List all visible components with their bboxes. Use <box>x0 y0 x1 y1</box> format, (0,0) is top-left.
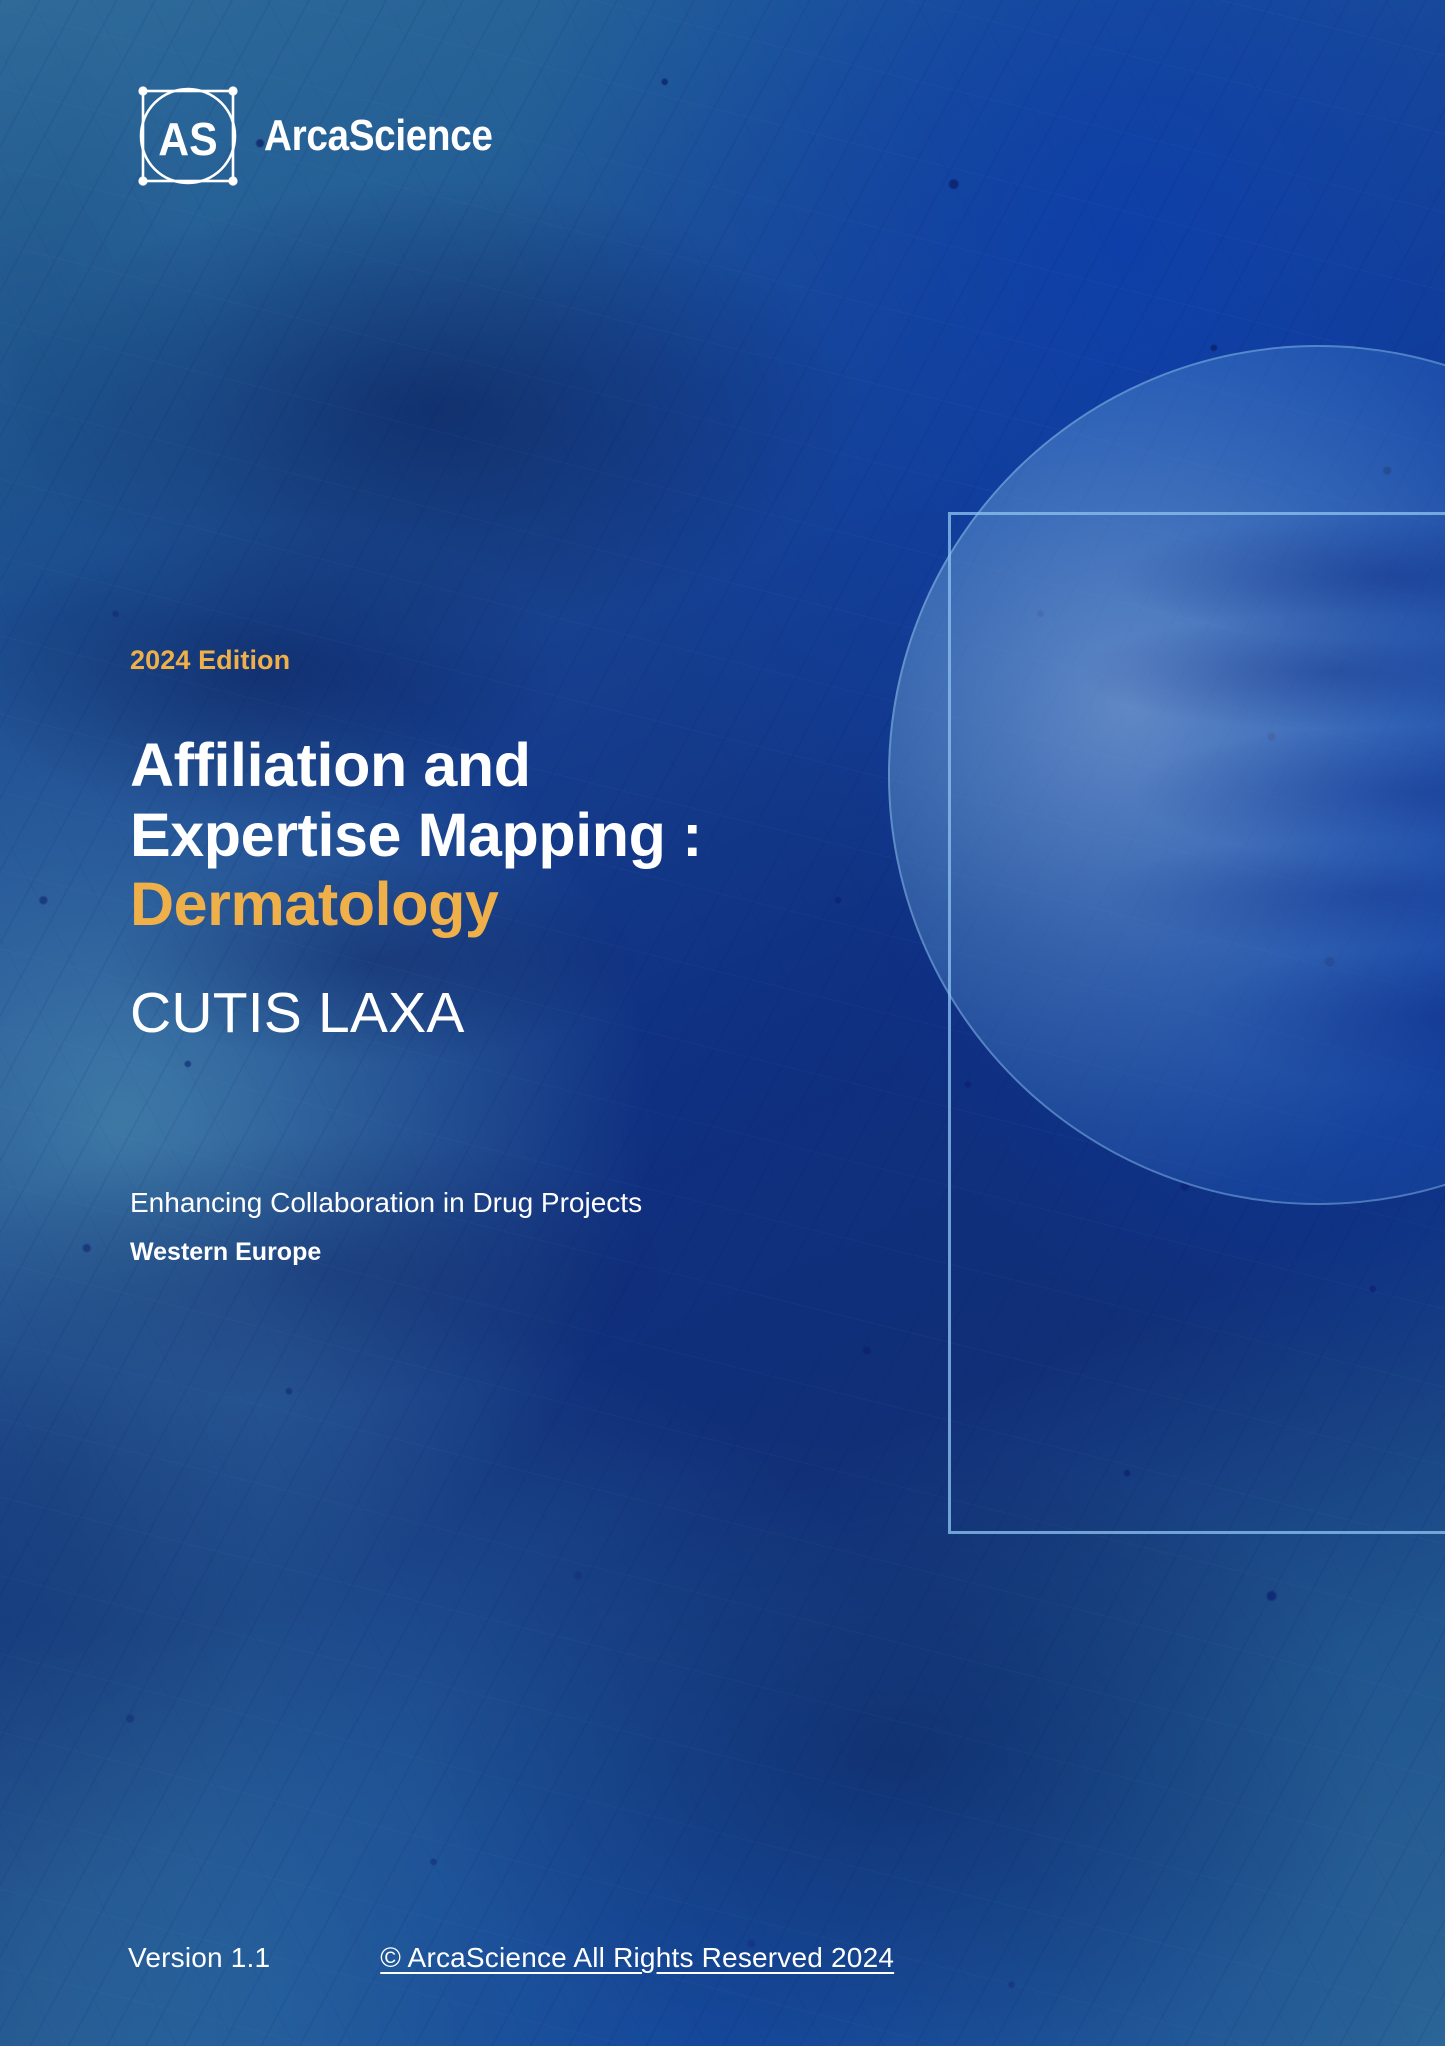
brand-logo: AS ArcaScience <box>134 82 524 190</box>
title-line-2: Expertise Mapping : <box>130 801 702 869</box>
brand-wordmark: ArcaScience <box>264 114 493 158</box>
page-title: Affiliation and Expertise Mapping : Derm… <box>130 731 890 940</box>
cover-subtitle-block: Enhancing Collaboration in Drug Projects… <box>130 1182 890 1272</box>
cover-title-block: 2024 Edition Affiliation and Expertise M… <box>130 645 890 1272</box>
title-line-1: Affiliation and <box>130 731 531 799</box>
region-label: Western Europe <box>130 1234 890 1272</box>
tagline: Enhancing Collaboration in Drug Projects <box>130 1182 890 1224</box>
edition-label: 2024 Edition <box>130 645 890 676</box>
title-specialty: Dermatology <box>130 870 890 940</box>
version-label: Version 1.1 <box>128 1942 270 1974</box>
svg-text:AS: AS <box>158 115 217 166</box>
cover-footer: Version 1.1 © ArcaScience All Rights Res… <box>0 1942 1445 1974</box>
copyright-notice[interactable]: © ArcaScience All Rights Reserved 2024 <box>380 1942 894 1974</box>
disease-name: CUTIS LAXA <box>130 982 890 1045</box>
arcascience-logo-icon: AS <box>134 82 242 190</box>
report-cover-page: AS ArcaScience 2024 Edition Affiliation … <box>0 0 1445 2046</box>
